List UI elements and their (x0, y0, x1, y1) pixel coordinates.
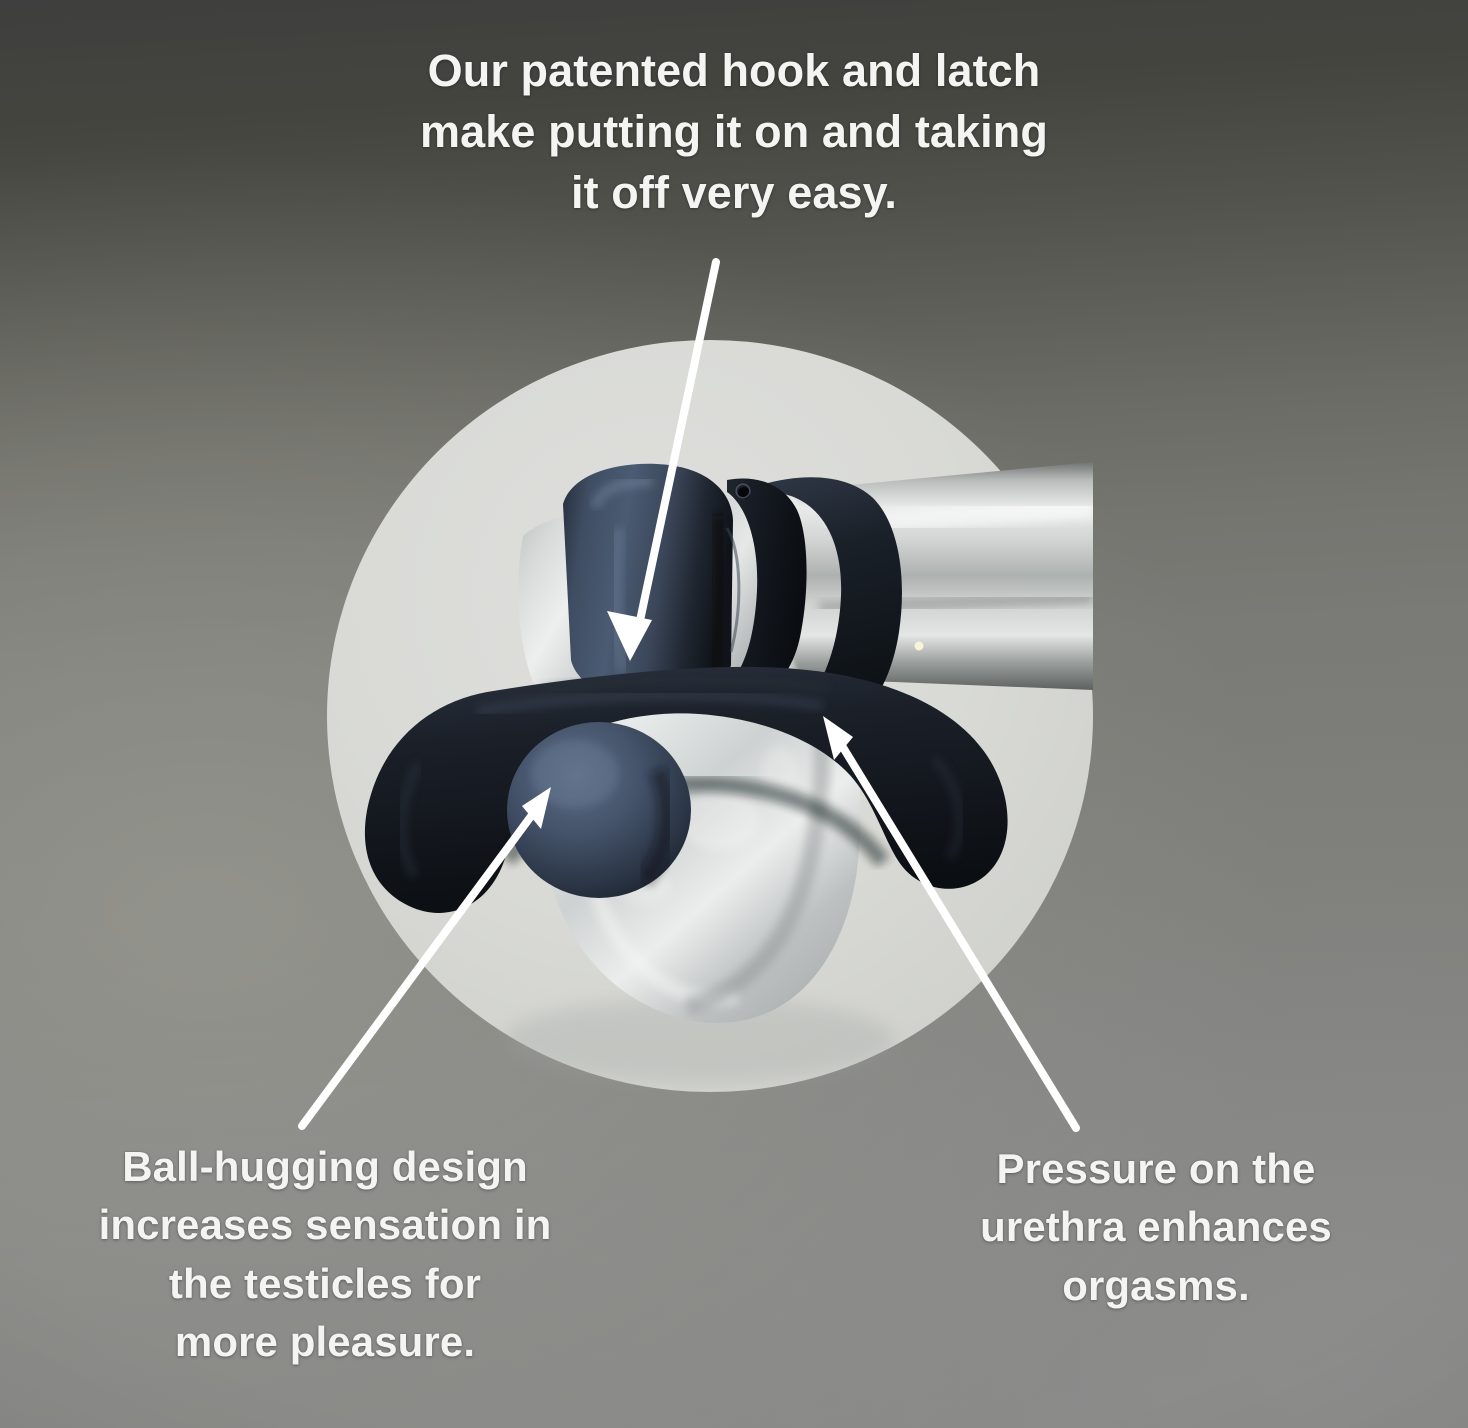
infographic-canvas: Our patented hook and latch make putting… (0, 0, 1468, 1428)
caption-urethra-pressure: Pressure on the urethra enhances orgasms… (900, 1140, 1412, 1315)
caption-ball-hugging-design: Ball-hugging design increases sensation … (20, 1138, 630, 1372)
product-photo (327, 340, 1093, 1092)
acrylic-bubble-1 (679, 790, 759, 850)
silicone-center-nub-highlight (531, 740, 619, 808)
silicone-top-edge-shadow (713, 516, 722, 672)
acrylic-shaft-glint (915, 642, 924, 651)
caption-hook-and-latch: Our patented hook and latch make putting… (274, 40, 1194, 224)
